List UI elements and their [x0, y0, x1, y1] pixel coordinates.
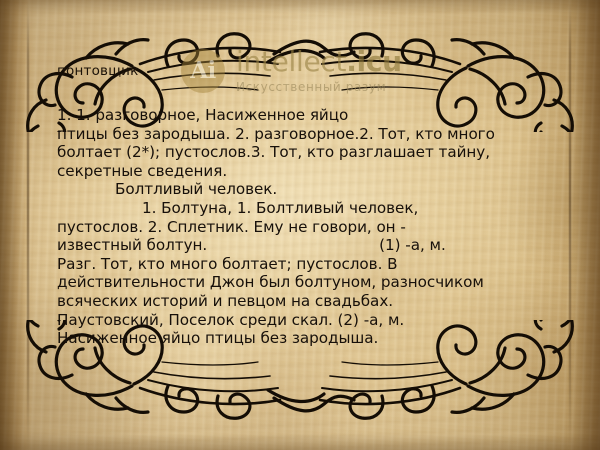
article-body: 1. 1. разговорное, Насиженное яйцоптицы …	[57, 106, 555, 348]
article-line: Паустовский, Поселок среди скал. (2) -а,…	[57, 311, 555, 330]
article-line: всяческих историй и певцом на свадьбах.	[57, 292, 555, 311]
dictionary-entry-image: Ai intellect.icu Искусственный разум пон…	[0, 0, 600, 450]
article-line: 1. 1. разговорное, Насиженное яйцо	[57, 106, 555, 125]
article-line: секретные сведения.	[57, 162, 555, 181]
article-line: Болтливый человек.	[57, 180, 555, 199]
article-line: Разг. Тот, кто много болтает; пустослов.…	[57, 255, 555, 274]
headword: понтовщик	[57, 63, 138, 79]
article-line: болтает (2*); пустослов.3. Тот, кто разг…	[57, 143, 555, 162]
article-line: пустослов. 2. Сплетник. Ему не говори, о…	[57, 218, 555, 237]
article-line: Насиженное яйцо птицы без зародыша.	[57, 329, 555, 348]
article-line: 1. Болтуна, 1. Болтливый человек,	[57, 199, 555, 218]
article-line: действительности Джон был болтуном, разн…	[57, 273, 555, 292]
article-line: известный болтун. (1) -а, м.	[57, 236, 555, 255]
article-line: птицы без зародыша. 2. разговорное.2. То…	[57, 125, 555, 144]
